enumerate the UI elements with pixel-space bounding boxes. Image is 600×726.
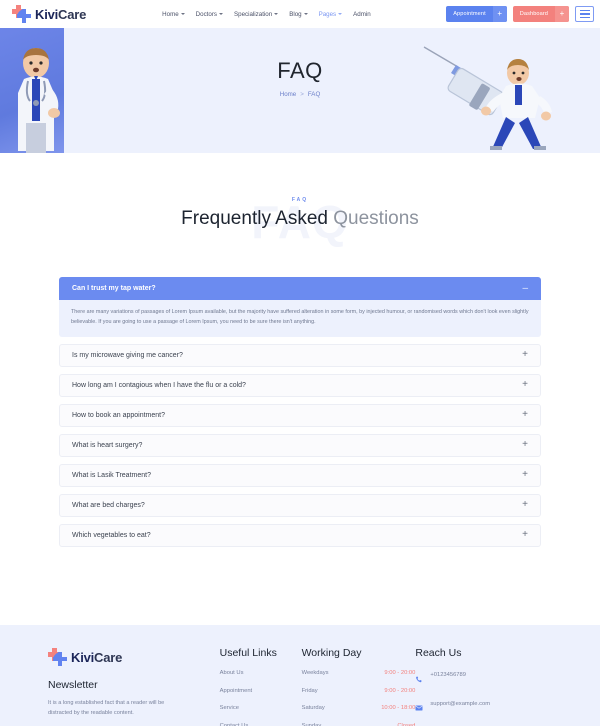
chevron-down-icon <box>338 13 342 15</box>
contact-email[interactable]: support@example.com <box>415 699 560 718</box>
faq-question-text: Can I trust my tap water? <box>72 285 156 292</box>
logo-text: KiviCare <box>35 7 86 22</box>
faq-item: How long am I contagious when I have the… <box>59 374 541 397</box>
faq-question-header[interactable]: Is my microwave giving me cancer? + <box>59 344 541 367</box>
contact-phone-text: +0123456789 <box>430 670 466 680</box>
faq-heading-strong: Frequently Asked <box>181 208 328 229</box>
footer-logo[interactable]: KiviCare <box>48 647 220 667</box>
nav-item-home[interactable]: Home <box>162 11 185 18</box>
nav-item-blog[interactable]: Blog <box>289 11 307 18</box>
useful-links-title: Useful Links <box>220 647 302 659</box>
plus-icon: + <box>493 6 507 22</box>
faq-answer-text: There are many variations of passages of… <box>59 300 541 337</box>
breadcrumb-home[interactable]: Home <box>280 91 297 98</box>
logo-text-care: Care <box>58 7 86 22</box>
hamburger-menu-icon[interactable] <box>575 6 594 22</box>
plus-icon: + <box>555 6 569 22</box>
footer-link-contact-us[interactable]: Contact Us <box>220 723 302 726</box>
plus-icon[interactable]: + <box>522 440 528 450</box>
faq-question-text: What is Lasik Treatment? <box>72 472 151 479</box>
contact-phone[interactable]: +0123456789 <box>415 670 560 689</box>
nav-item-admin[interactable]: Admin <box>353 11 371 18</box>
faq-page: KiviCare Home Doctors Specialization Blo… <box>0 0 600 726</box>
nav-label-home: Home <box>162 11 179 18</box>
appointment-button[interactable]: Appointment + <box>446 6 507 22</box>
mail-icon <box>415 699 424 717</box>
working-day-time: 9:00 - 20:00 <box>384 670 415 676</box>
working-day-row: Sunday Closed <box>302 723 416 726</box>
site-logo[interactable]: KiviCare <box>12 4 86 24</box>
footer-useful-links-column: Useful Links About Us Appointment Servic… <box>220 647 302 726</box>
faq-header: FAQ FAQ Frequently Asked Questions <box>0 197 600 261</box>
chevron-down-icon <box>274 13 278 15</box>
chevron-down-icon <box>181 13 185 15</box>
faq-question-text: Which vegetables to eat? <box>72 532 151 539</box>
working-day-label: Weekdays <box>302 670 329 676</box>
plus-icon[interactable]: + <box>522 500 528 510</box>
plus-icon[interactable]: + <box>522 530 528 540</box>
faq-item: What is heart surgery? + <box>59 434 541 457</box>
dashboard-button-label: Dashboard <box>513 11 555 17</box>
appointment-button-label: Appointment <box>446 11 493 17</box>
working-day-label: Sunday <box>302 723 322 726</box>
contact-email-text: support@example.com <box>430 699 490 709</box>
faq-question-header[interactable]: Which vegetables to eat? + <box>59 524 541 547</box>
doctor-with-syringe-illustration <box>422 41 572 151</box>
faq-item: Which vegetables to eat? + <box>59 524 541 547</box>
footer-link-service[interactable]: Service <box>220 705 302 711</box>
footer-logo-care: Care <box>94 650 122 665</box>
logo-text-kivi: Kivi <box>35 7 58 22</box>
faq-heading: Frequently Asked Questions <box>0 208 600 230</box>
site-footer: KiviCare Newsletter It is a long establi… <box>0 625 600 726</box>
chevron-down-icon <box>304 13 308 15</box>
breadcrumb-current: FAQ <box>308 91 320 98</box>
faq-accordion: Can I trust my tap water? – There are ma… <box>59 277 541 547</box>
faq-question-text: What is heart surgery? <box>72 442 142 449</box>
working-day-time: Closed <box>397 723 415 726</box>
footer-brand-column: KiviCare Newsletter It is a long establi… <box>48 647 220 726</box>
working-day-time: 10:00 - 18:00 <box>381 705 415 711</box>
minus-icon[interactable]: – <box>522 284 528 294</box>
faq-question-header[interactable]: What is Lasik Treatment? + <box>59 464 541 487</box>
footer-logo-text: KiviCare <box>71 650 122 665</box>
reach-us-title: Reach Us <box>415 647 560 659</box>
working-day-time: 9:00 - 20:00 <box>384 688 415 694</box>
hero-banner: FAQ Home > FAQ <box>0 28 600 153</box>
kivicare-cross-icon <box>48 647 68 667</box>
footer-link-about-us[interactable]: About Us <box>220 670 302 676</box>
nav-item-pages[interactable]: Pages <box>319 11 343 18</box>
working-day-row: Saturday 10:00 - 18:00 <box>302 705 416 711</box>
main-navigation: Home Doctors Specialization Blog Pages A… <box>162 11 371 18</box>
faq-question-header[interactable]: How long am I contagious when I have the… <box>59 374 541 397</box>
faq-question-text: How long am I contagious when I have the… <box>72 382 246 389</box>
working-day-label: Saturday <box>302 705 325 711</box>
faq-question-header[interactable]: How to book an appointment? + <box>59 404 541 427</box>
faq-heading-light: Questions <box>333 208 419 229</box>
nav-label-specialization: Specialization <box>234 11 272 18</box>
faq-section: FAQ FAQ Frequently Asked Questions Can I… <box>0 153 600 625</box>
faq-question-header[interactable]: What are bed charges? + <box>59 494 541 517</box>
nav-item-specialization[interactable]: Specialization <box>234 11 278 18</box>
plus-icon[interactable]: + <box>522 470 528 480</box>
faq-item: How to book an appointment? + <box>59 404 541 427</box>
nav-label-blog: Blog <box>289 11 301 18</box>
faq-question-text: What are bed charges? <box>72 502 145 509</box>
dashboard-button[interactable]: Dashboard + <box>513 6 569 22</box>
footer-working-day-column: Working Day Weekdays 9:00 - 20:00 Friday… <box>302 647 416 726</box>
kivicare-cross-icon <box>12 4 32 24</box>
nav-label-doctors: Doctors <box>196 11 217 18</box>
faq-question-header[interactable]: Can I trust my tap water? – <box>59 277 541 300</box>
footer-link-appointment[interactable]: Appointment <box>220 688 302 694</box>
newsletter-description: It is a long established fact that a rea… <box>48 698 180 719</box>
working-day-row: Weekdays 9:00 - 20:00 <box>302 670 416 676</box>
chevron-down-icon <box>219 13 223 15</box>
faq-kicker-label: FAQ <box>0 197 600 203</box>
phone-icon <box>415 671 424 689</box>
working-day-title: Working Day <box>302 647 416 659</box>
faq-item: What is Lasik Treatment? + <box>59 464 541 487</box>
plus-icon[interactable]: + <box>522 350 528 360</box>
faq-item: Can I trust my tap water? – There are ma… <box>59 277 541 337</box>
site-header: KiviCare Home Doctors Specialization Blo… <box>0 0 600 28</box>
nav-item-doctors[interactable]: Doctors <box>196 11 223 18</box>
footer-logo-kivi: Kivi <box>71 650 94 665</box>
header-actions: Appointment + Dashboard + <box>446 6 594 22</box>
faq-item: What are bed charges? + <box>59 494 541 517</box>
footer-reach-us-column: Reach Us +0123456789 support@example.com… <box>415 647 560 726</box>
faq-question-text: How to book an appointment? <box>72 412 165 419</box>
plus-icon[interactable]: + <box>522 380 528 390</box>
newsletter-title: Newsletter <box>48 679 220 691</box>
nav-label-pages: Pages <box>319 11 337 18</box>
breadcrumb-separator: > <box>300 91 304 98</box>
faq-item: Is my microwave giving me cancer? + <box>59 344 541 367</box>
working-day-row: Friday 9:00 - 20:00 <box>302 688 416 694</box>
faq-question-text: Is my microwave giving me cancer? <box>72 352 183 359</box>
faq-question-header[interactable]: What is heart surgery? + <box>59 434 541 457</box>
nav-label-admin: Admin <box>353 11 371 18</box>
plus-icon[interactable]: + <box>522 410 528 420</box>
working-day-label: Friday <box>302 688 318 694</box>
